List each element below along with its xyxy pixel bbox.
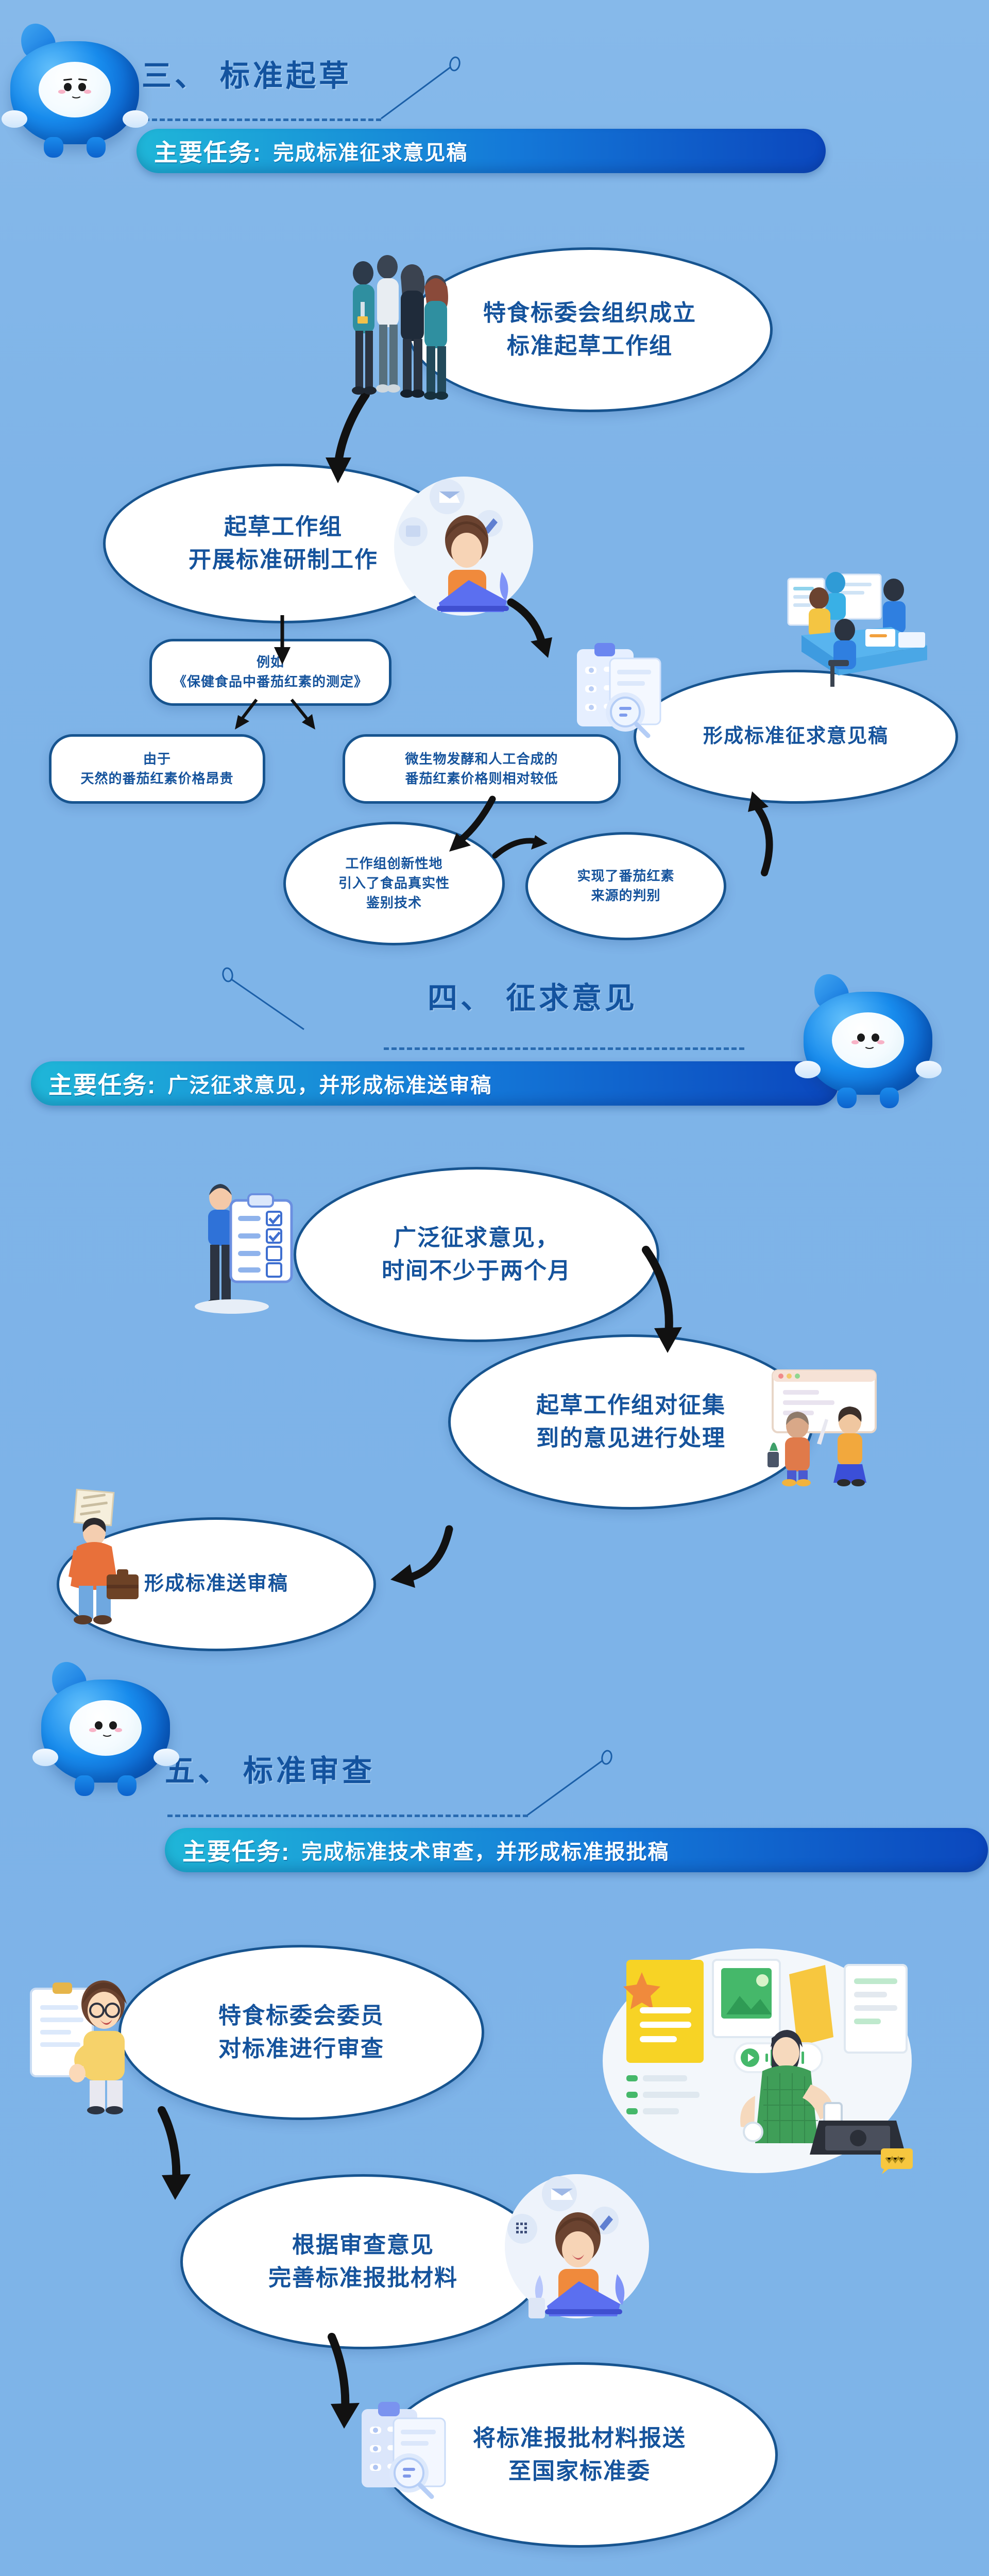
section-4-task-label: 主要任务: (48, 1066, 156, 1100)
mascot-leg-left (75, 1775, 94, 1796)
node-s3n2: 起草工作组 开展标准研制工作 (103, 464, 464, 623)
node-s3n3-text: 形成标准征求意见稿 (694, 722, 898, 751)
section-3-number: 三、 (142, 59, 208, 93)
section-4-kite-line (221, 963, 325, 1036)
node-s5n2-text: 根据审查意见 完善标准报批材料 (259, 2229, 467, 2295)
section-3-task-label: 主要任务: (154, 134, 262, 168)
arrow-s3n7-to-s3n8 (492, 832, 554, 868)
mascot-leg-right (117, 1775, 137, 1796)
arrow-s4n2-to-s4n3 (376, 1520, 458, 1597)
mascot-eye-left (95, 1721, 103, 1730)
mascot-body (10, 41, 139, 144)
mascot-body (804, 992, 932, 1095)
arrow-s3n4-to-s3n5 (227, 697, 268, 738)
mascot-arm-right (916, 1061, 942, 1078)
section-3-rule (144, 118, 381, 121)
section-5-task-banner: 主要任务: 完成标准技术审查，并形成标准报批稿 (165, 1828, 988, 1872)
mascot-smile (864, 1041, 875, 1049)
node-s4n1-text: 广泛征求意见， 时间不少于两个月 (372, 1222, 581, 1287)
node-s3n3: 形成标准征求意见稿 (634, 670, 958, 804)
section-5-rule (167, 1815, 528, 1817)
section-3-kite-line (379, 57, 471, 124)
mascot-smile (71, 91, 82, 98)
mascot-arm-left (2, 110, 27, 128)
mascot-eye-left (857, 1033, 865, 1042)
section-3-task-value: 完成标准征求意见稿 (273, 136, 468, 166)
mascot-leg-right (880, 1088, 899, 1108)
arrow-s4n1-to-s4n2 (634, 1247, 701, 1365)
node-s3n1: 特食标委会组织成立 标准起草工作组 (407, 247, 773, 412)
mascot-face (832, 1012, 904, 1068)
mascot-character-2 (804, 981, 932, 1110)
node-s4n3: 形成标准送审稿 (57, 1517, 376, 1651)
node-s3n6-text: 微生物发酵和人工合成的 番茄红素价格则相对较低 (396, 750, 567, 788)
node-s3n6: 微生物发酵和人工合成的 番茄红素价格则相对较低 (343, 734, 621, 804)
node-s3n5-text: 由于 天然的番茄红素价格昂贵 (71, 750, 243, 788)
section-4-rule (384, 1047, 744, 1050)
section-4-number: 四、 (428, 981, 493, 1015)
node-s4n3-text: 形成标准送审稿 (135, 1570, 298, 1598)
mascot-leg-left (837, 1088, 857, 1108)
node-s3n7-text: 工作组创新性地 引入了食品真实性 鉴别技术 (329, 854, 459, 912)
section-4-task-banner: 主要任务: 广泛征求意见，并形成标准送审稿 (31, 1061, 839, 1106)
section-3-title-text: 标准起草 (220, 59, 352, 93)
section-5-task-value: 完成标准技术审查，并形成标准报批稿 (301, 1835, 669, 1865)
arrow-s5n1-to-s5n2 (149, 2107, 206, 2210)
mascot-leg-left (44, 137, 63, 158)
mascot-character-3 (41, 1669, 170, 1798)
node-s5n1-text: 特食标委会委员 对标准进行审查 (209, 1999, 394, 2065)
node-s3n5: 由于 天然的番茄红素价格昂贵 (49, 734, 265, 804)
node-s3n2-text: 起草工作组 开展标准研制工作 (179, 511, 387, 577)
mascot-arm-right (154, 1749, 179, 1766)
arrow-s3n4-to-s3n6 (283, 697, 325, 738)
media-files-illustration (603, 1942, 922, 2174)
node-s3n8: 实现了番茄红素 来源的判别 (525, 832, 726, 940)
mascot-arm-left (795, 1061, 821, 1078)
infographic-page: 三、标准起草 主要任务: 完成标准征求意见稿 特食标委会组织成立 标准起草工作组 (0, 0, 989, 2576)
node-s5n2: 根据审查意见 完善标准报批材料 (180, 2174, 546, 2349)
section-5-kite-line (525, 1749, 628, 1821)
arrow-s3n2-to-s3n3 (505, 600, 572, 667)
mascot-cheek-left (58, 90, 65, 94)
mascot-eyebrow-left (63, 79, 72, 81)
section-4-task-value: 广泛征求意见，并形成标准送审稿 (167, 1069, 492, 1098)
mascot-eye-left (64, 83, 72, 91)
mascot-cheek-right (84, 90, 91, 94)
node-s3n1-text: 特食标委会组织成立 标准起草工作组 (474, 297, 706, 363)
arrow-s3n2-to-s3n4 (268, 613, 299, 670)
mascot-smile (101, 1729, 113, 1737)
node-s5n3: 将标准报批材料报送 至国家标准委 (381, 2362, 778, 2548)
section-4-title: 四、征求意见 (428, 974, 638, 1017)
node-s5n3-text: 将标准报批材料报送 至国家标准委 (464, 2422, 695, 2488)
mascot-arm-left (32, 1749, 58, 1766)
mascot-cheek-right (115, 1728, 122, 1732)
arrow-s5n2-to-s5n3 (319, 2334, 376, 2437)
section-3-task-banner: 主要任务: 完成标准征求意见稿 (137, 129, 826, 173)
node-s5n1: 特食标委会委员 对标准进行审查 (118, 1945, 484, 2120)
mascot-face (39, 62, 111, 117)
mascot-leg-right (87, 137, 106, 158)
section-3-title: 三、标准起草 (142, 52, 352, 95)
arrow-s3n8-to-s3n3 (721, 783, 788, 876)
node-s3n8-text: 实现了番茄红素 来源的判别 (568, 867, 684, 905)
section-5-title-text: 标准审查 (243, 1754, 375, 1788)
node-s4n2: 起草工作组对征集 到的意见进行处理 (448, 1334, 814, 1510)
section-5-title: 五、标准审查 (165, 1747, 375, 1790)
mascot-arm-right (123, 110, 148, 128)
mascot-eyebrow-right (78, 79, 87, 81)
mascot-body (41, 1680, 170, 1783)
mascot-character-1 (10, 31, 139, 160)
arrow-s3n1-to-s3n2 (319, 392, 381, 489)
mascot-cheek-left (851, 1040, 859, 1044)
node-s4n1: 广泛征求意见， 时间不少于两个月 (294, 1167, 659, 1342)
mascot-face (70, 1700, 142, 1756)
node-s4n2-text: 起草工作组对征集 到的意见进行处理 (527, 1389, 735, 1455)
mascot-cheek-left (89, 1728, 96, 1732)
section-5-task-label: 主要任务: (182, 1833, 290, 1867)
section-4-title-text: 征求意见 (506, 981, 638, 1015)
mascot-cheek-right (877, 1040, 884, 1044)
man-checklist-illustration (196, 1180, 309, 1314)
